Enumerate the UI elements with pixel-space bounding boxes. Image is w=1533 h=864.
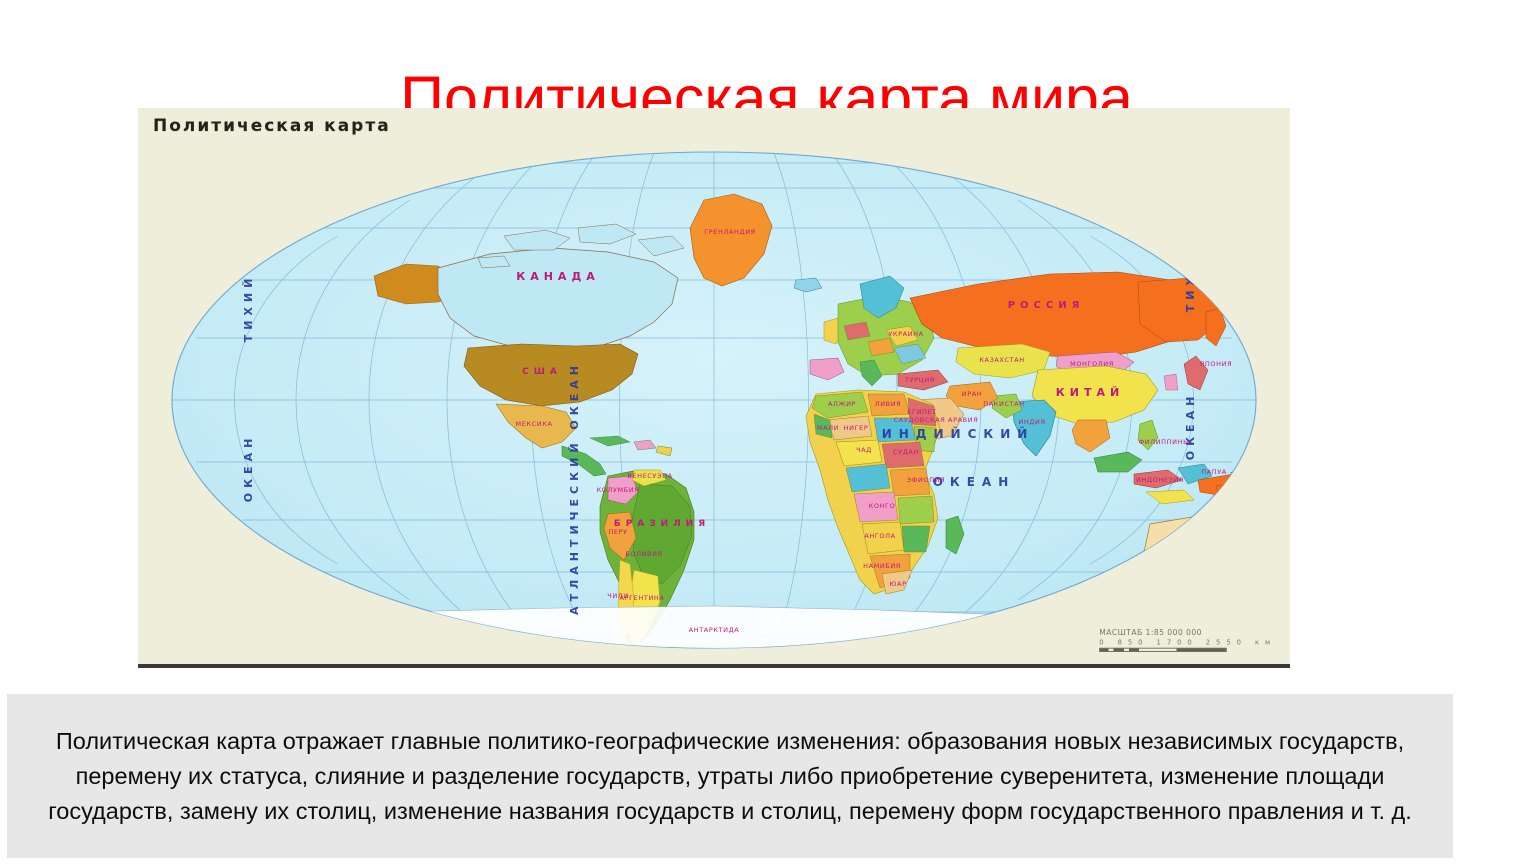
country-label-sudan: СУДАН (893, 448, 919, 456)
country-label-pakistan: ПАКИСТАН (983, 400, 1024, 408)
country-label-usa: США (522, 367, 562, 377)
country-label-egypt: ЕГИПЕТ (907, 408, 937, 416)
ocean-label-atlantic: АТЛАНТИЧЕСКИЙ ОКЕАН (568, 361, 581, 615)
country-label-ethiopia: ЭФИОПИЯ (907, 476, 946, 484)
scale-title: МАСШТАБ 1:85 000 000 (1099, 629, 1276, 638)
country-label-peru: ПЕРУ (608, 528, 627, 536)
country-label-bolivia: БОЛИВИЯ (625, 550, 662, 558)
country-label-chile: ЧИЛИ (607, 592, 628, 600)
country-label-ukraine: УКРАИНА (888, 330, 923, 338)
country-label-venezuela: ВЕНЕСУЭЛА (627, 472, 672, 480)
map-graphic: СЕВЕРНЫЙ ЛЕДОВИТЫЙ ОКЕАН АТЛАНТИЧЕСКИЙ О… (138, 108, 1290, 664)
country-label-iran: ИРАН (962, 390, 983, 398)
caption-panel: Политическая карта отражает главные поли… (7, 694, 1453, 858)
country-label-congo: КОНГО (869, 502, 896, 510)
country-label-saudi-arabia: САУДОВСКАЯ АРАВИЯ (894, 416, 979, 424)
scale-ticks: 0 850 1700 2550 км (1099, 638, 1276, 646)
country-label-japan: ЯПОНИЯ (1200, 360, 1232, 368)
landmass-korea (1164, 374, 1178, 390)
country-label-indonesia: ИНДОНЕЗИЯ (1136, 476, 1184, 484)
country-label-south-africa: ЮАР (889, 580, 906, 588)
country-label-niger: НИГЕР (844, 424, 869, 432)
scale-bar-graphic (1099, 648, 1227, 652)
ocean-label-pacific-west-second: ОКЕАН (242, 434, 255, 503)
country-label-angola: АНГОЛА (864, 532, 895, 540)
country-label-chad: ЧАД (856, 446, 872, 454)
country-label-mali: МАЛИ (817, 424, 839, 432)
country-label-libya: ЛИВИЯ (875, 400, 902, 408)
country-label-turkey: ТУРЦИЯ (904, 376, 935, 384)
country-label-mongolia: МОНГОЛИЯ (1070, 360, 1114, 368)
country-label-brazil: БРАЗИЛИЯ (614, 519, 710, 529)
country-label-philippines: ФИЛИППИНЫ (1139, 438, 1190, 446)
country-label-greenland: ГРЕНЛАНДИЯ (704, 228, 756, 236)
country-label-india: ИНДИЯ (1018, 418, 1045, 426)
ocean-label-indian: ИНДИЙСКИЙ (882, 426, 1035, 441)
country-label-antarctica: АНТАРКТИДА (689, 626, 740, 634)
caption-text: Политическая карта отражает главные поли… (46, 724, 1414, 829)
country-label-namibia: НАМИБИЯ (863, 562, 901, 570)
country-label-mexico: МЕКСИКА (516, 420, 553, 428)
country-label-kazakhstan: КАЗАХСТАН (979, 356, 1024, 364)
country-label-china: КИТАЙ (1056, 386, 1124, 399)
country-label-colombia: КОЛУМБИЯ (597, 486, 640, 494)
ocean-label-pacific-west: ТИХИЙ (242, 274, 255, 343)
map-header-label: Политическая карта (153, 116, 391, 136)
country-label-canada: КАНАДА (516, 270, 600, 283)
country-label-russia: РОССИЯ (1008, 300, 1085, 311)
map-scale-bar: МАСШТАБ 1:85 000 000 0 850 1700 2550 км (1099, 629, 1276, 652)
world-political-map[interactable]: Политическая карта (138, 108, 1290, 668)
ocean-label-pacific-east-second: ОКЕАН (1184, 392, 1197, 461)
country-label-algeria: АЛЖИР (828, 400, 856, 408)
